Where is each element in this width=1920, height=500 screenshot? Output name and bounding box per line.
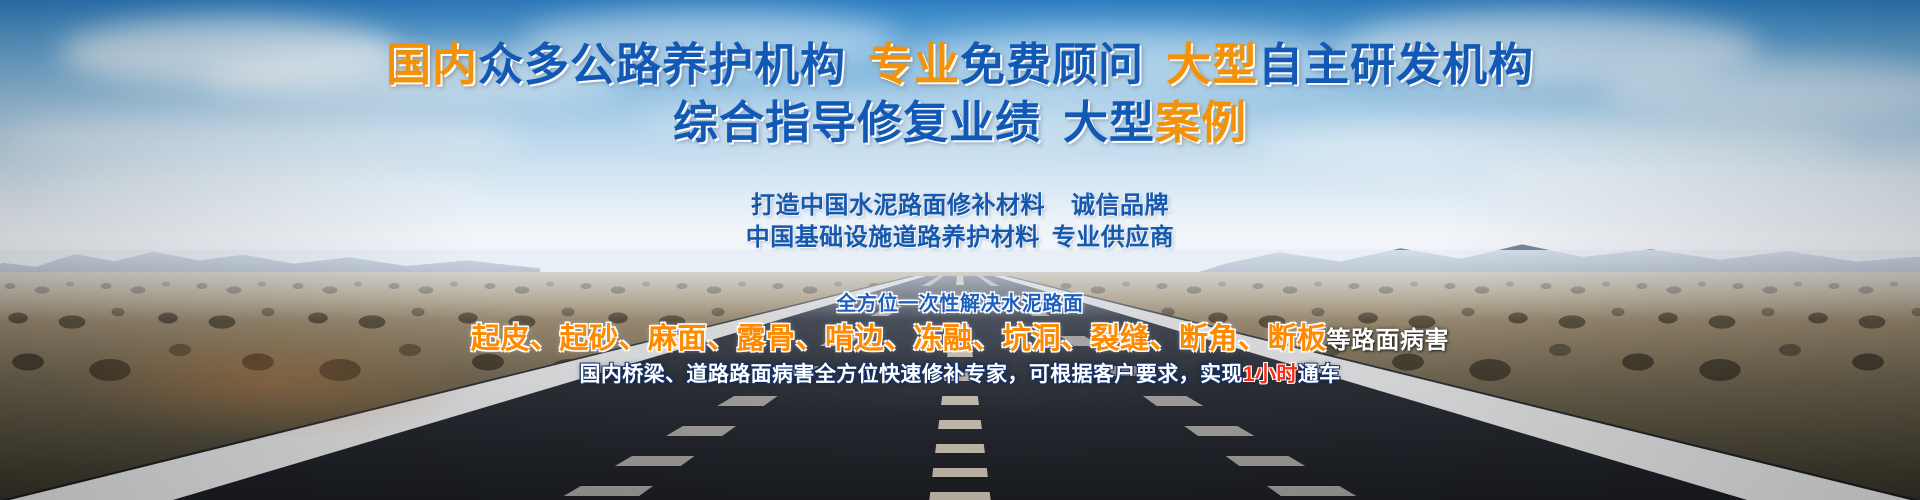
headline-line-1: 国内众多公路养护机构专业免费顾问大型自主研发机构 bbox=[0, 42, 1920, 87]
headline2-seg-anli: 案例 bbox=[1155, 97, 1247, 148]
headline-seg-zhongduo: 众多公路养护机构 bbox=[478, 39, 846, 90]
subheading-2a: 中国基础设施道路养护材料 bbox=[746, 224, 1040, 251]
headline-seg-daxing: 大型 bbox=[1166, 39, 1258, 90]
headline-seg-zizhu: 自主研发机构 bbox=[1258, 39, 1534, 90]
subheading-1b: 诚信品牌 bbox=[1071, 192, 1169, 219]
subheading-block: 打造中国水泥路面修补材料诚信品牌 中国基础设施道路养护材料专业供应商 bbox=[0, 190, 1920, 253]
subheading-line-2: 中国基础设施道路养护材料专业供应商 bbox=[0, 222, 1920, 254]
bottom-lead-text: 全方位一次性解决水泥路面 bbox=[0, 292, 1920, 316]
tail-highlight-hours: 1小时 bbox=[1243, 363, 1298, 386]
bottom-tail-line: 国内桥梁、道路路面病害全方位快速修补专家，可根据客户要求，实现1小时通车 bbox=[0, 362, 1920, 387]
tail-text-b: 通车 bbox=[1298, 363, 1341, 386]
headline-line-2: 综合指导修复业绩大型案例 bbox=[0, 100, 1920, 145]
bottom-message-block: 全方位一次性解决水泥路面 起皮、起砂、麻面、露骨、啃边、冻融、坑洞、裂缝、断角、… bbox=[0, 292, 1920, 387]
headline2-seg-zonghe: 综合指导修复业绩 bbox=[673, 97, 1041, 148]
promo-banner: 国内众多公路养护机构专业免费顾问大型自主研发机构 综合指导修复业绩大型案例 打造… bbox=[0, 0, 1920, 500]
headline-seg-guonei: 国内 bbox=[386, 39, 478, 90]
headline-seg-zhuanye: 专业 bbox=[868, 39, 960, 90]
text-overlay: 国内众多公路养护机构专业免费顾问大型自主研发机构 综合指导修复业绩大型案例 打造… bbox=[0, 0, 1920, 500]
headline2-seg-daxing: 大型 bbox=[1063, 97, 1155, 148]
damage-type-list: 起皮、起砂、麻面、露骨、啃边、冻融、坑洞、裂缝、断角、断板 bbox=[471, 323, 1327, 355]
tail-text-a: 国内桥梁、道路路面病害全方位快速修补专家，可根据客户要求，实现 bbox=[579, 363, 1242, 386]
subheading-line-1: 打造中国水泥路面修补材料诚信品牌 bbox=[0, 190, 1920, 222]
bottom-damage-line: 起皮、起砂、麻面、露骨、啃边、冻融、坑洞、裂缝、断角、断板等路面病害 bbox=[0, 322, 1920, 356]
headline-seg-mianfei: 免费顾问 bbox=[960, 39, 1144, 90]
subheading-2b: 专业供应商 bbox=[1052, 224, 1175, 251]
subheading-1a: 打造中国水泥路面修补材料 bbox=[751, 192, 1045, 219]
damage-suffix: 等路面病害 bbox=[1327, 327, 1450, 354]
